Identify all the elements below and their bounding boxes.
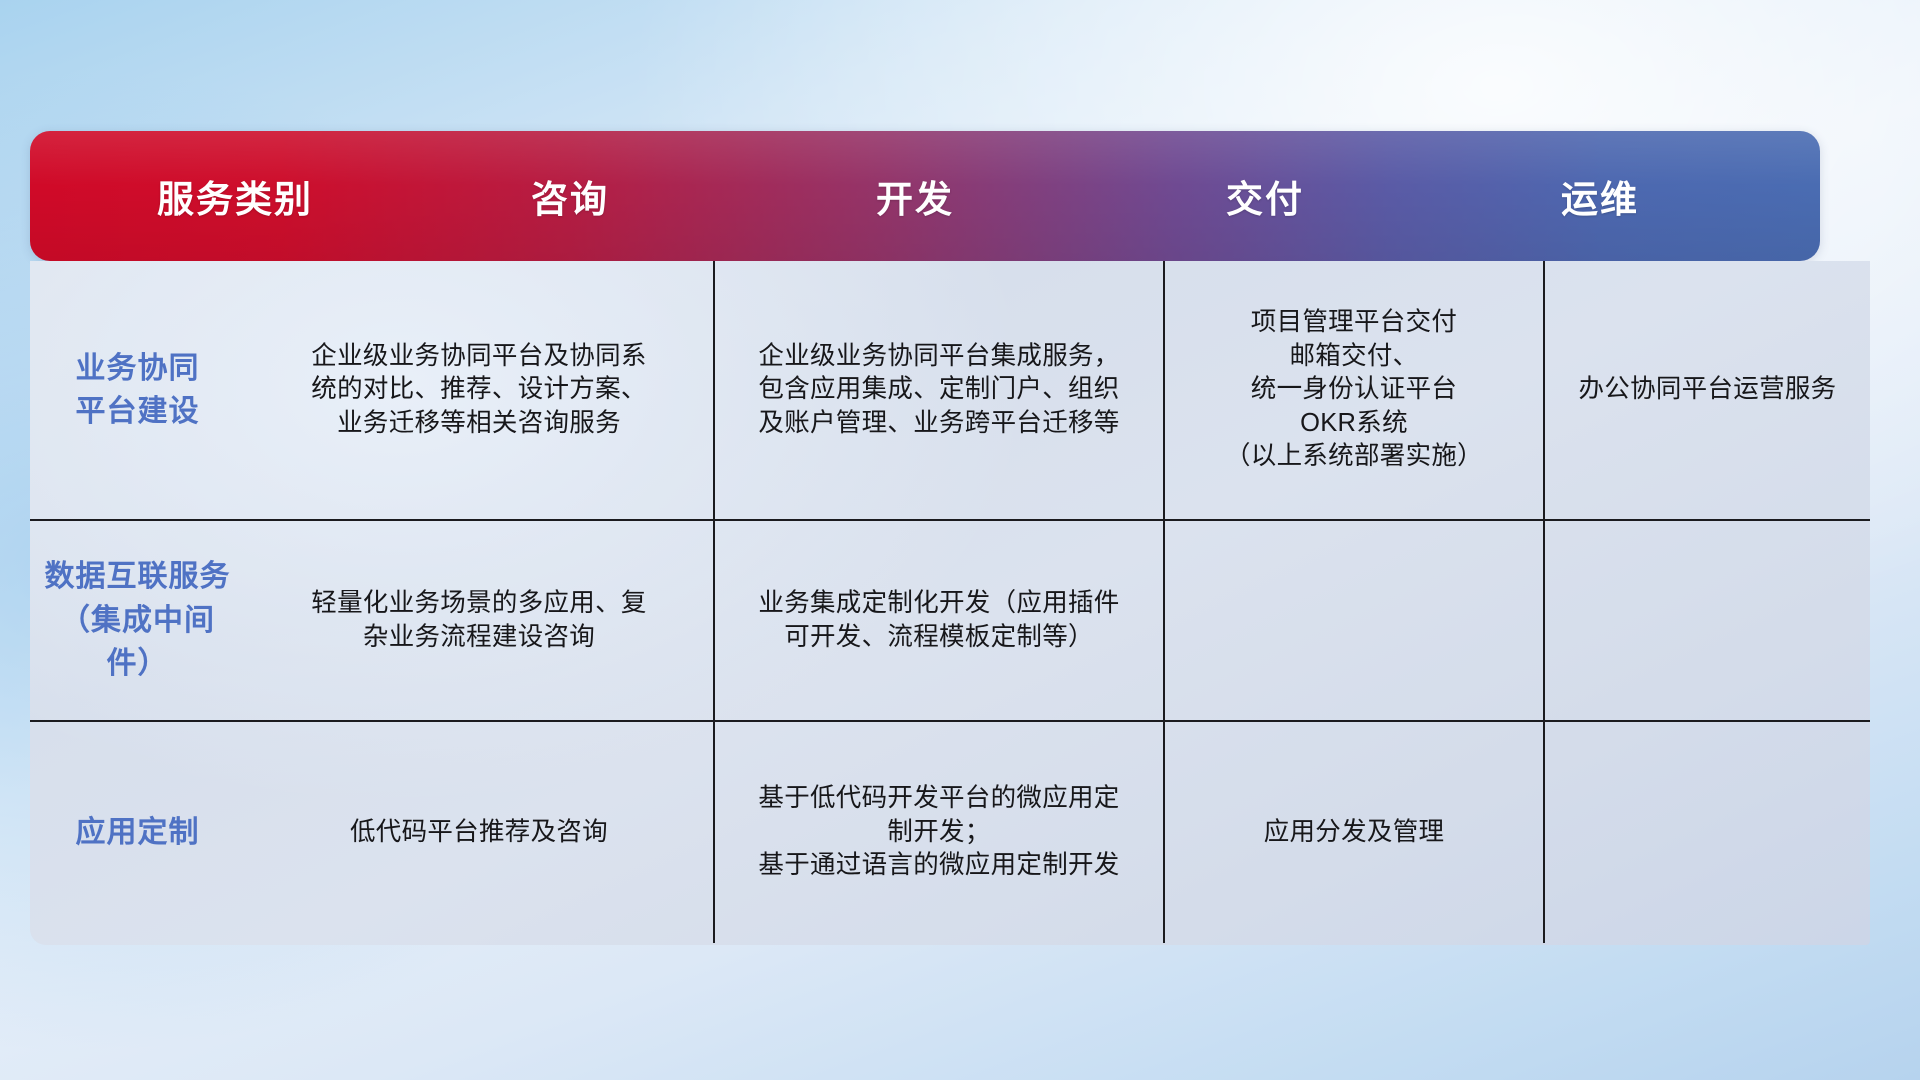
column-header-consulting: 咨询 [405, 169, 735, 223]
table-header-row: 服务类别 咨询 开发 交付 运维 [30, 131, 1820, 261]
cell-category: 业务协同 平台建设 [30, 261, 245, 519]
column-header-operations: 运维 [1435, 169, 1765, 223]
table-row: 数据互联服务 （集成中间件） 轻量化业务场景的多应用、复 杂业务流程建设咨询 业… [30, 521, 1870, 722]
cell-development: 基于低代码开发平台的微应用定 制开发； 基于通过语言的微应用定制开发 [715, 722, 1165, 943]
cell-consulting: 企业级业务协同平台及协同系 统的对比、推荐、设计方案、 业务迁移等相关咨询服务 [245, 261, 715, 519]
cell-operations [1545, 722, 1870, 943]
column-header-delivery: 交付 [1095, 169, 1435, 223]
cell-delivery [1165, 521, 1545, 720]
column-header-development: 开发 [735, 169, 1095, 223]
slide-canvas: 服务类别 咨询 开发 交付 运维 业务协同 平台建设 企业级业务协同平台及协同系… [0, 0, 1920, 1080]
table-row: 业务协同 平台建设 企业级业务协同平台及协同系 统的对比、推荐、设计方案、 业务… [30, 261, 1870, 521]
cell-delivery: 应用分发及管理 [1165, 722, 1545, 943]
column-header-category: 服务类别 [65, 169, 405, 223]
table-body: 业务协同 平台建设 企业级业务协同平台及协同系 统的对比、推荐、设计方案、 业务… [30, 261, 1870, 945]
table-row: 应用定制 低代码平台推荐及咨询 基于低代码开发平台的微应用定 制开发； 基于通过… [30, 722, 1870, 943]
cell-delivery: 项目管理平台交付 邮箱交付、 统一身份认证平台 OKR系统 （以上系统部署实施） [1165, 261, 1545, 519]
cell-development: 业务集成定制化开发（应用插件 可开发、流程模板定制等） [715, 521, 1165, 720]
cell-category: 应用定制 [30, 722, 245, 943]
cell-operations [1545, 521, 1870, 720]
cell-consulting: 轻量化业务场景的多应用、复 杂业务流程建设咨询 [245, 521, 715, 720]
cell-category: 数据互联服务 （集成中间件） [30, 521, 245, 720]
cell-operations: 办公协同平台运营服务 [1545, 261, 1870, 519]
cell-consulting: 低代码平台推荐及咨询 [245, 722, 715, 943]
cell-development: 企业级业务协同平台集成服务， 包含应用集成、定制门户、组织 及账户管理、业务跨平… [715, 261, 1165, 519]
